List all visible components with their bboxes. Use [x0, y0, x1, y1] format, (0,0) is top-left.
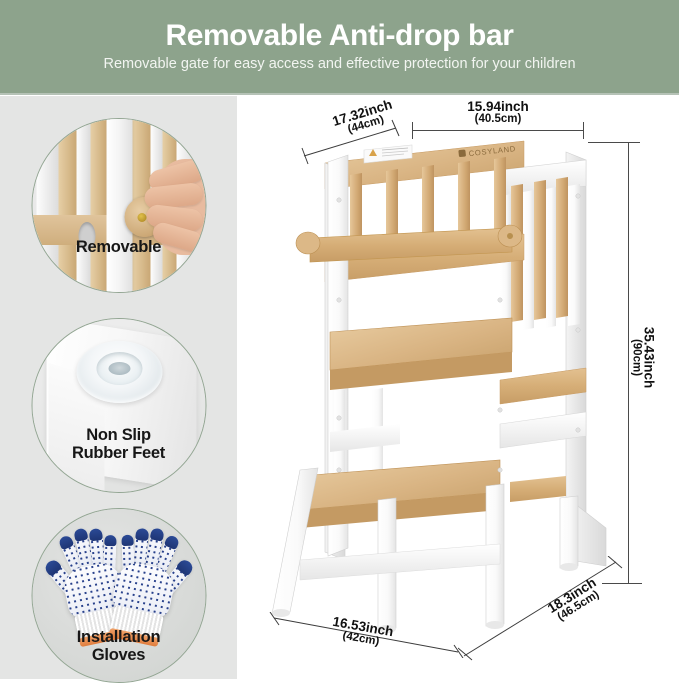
dim-tick-right [583, 122, 584, 139]
dim-height-right-cm: (90cm) [631, 298, 643, 418]
dim-line-height-right [628, 142, 629, 583]
dim-tick-left [412, 122, 413, 139]
dim-line-width-top [412, 130, 584, 131]
dim-height-right: 35.43inch (90cm) [631, 298, 656, 418]
dim-width-top: 15.94inch (40.5cm) [432, 100, 564, 125]
product-infographic: Removable Anti-drop bar Removable gate f… [0, 0, 679, 679]
dim-width-top-cm: (40.5cm) [432, 114, 564, 126]
dim-width-top-inch: 15.94inch [432, 100, 564, 114]
dim-height-right-inch: 35.43inch [642, 298, 656, 418]
dim-tick-top [588, 142, 640, 143]
